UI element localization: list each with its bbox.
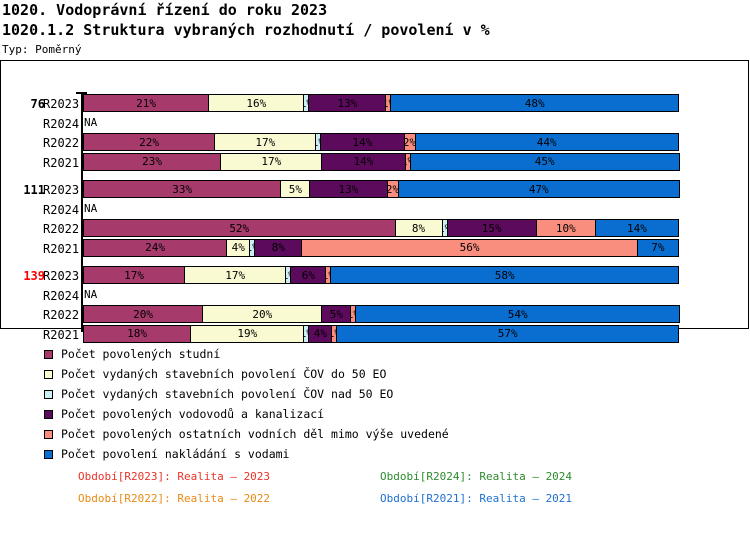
bar-row[interactable]: 24%4%1%8%56%7%	[83, 239, 684, 257]
bar-segment[interactable]: 52%	[83, 219, 396, 237]
bar-segment[interactable]: 14%	[321, 153, 405, 171]
row-label-r2021: R2021	[43, 328, 78, 342]
footer-period-annotation: Období[R2022]: Realita – 2022	[78, 492, 270, 505]
chart-subtitle-title: 1020.1.2 Struktura vybraných rozhodnutí …	[2, 21, 490, 39]
bar-segment[interactable]: 17%	[214, 133, 316, 151]
bar-row[interactable]: 22%17%1%14%2%44%	[83, 133, 684, 151]
bar-segment[interactable]: 23%	[83, 153, 221, 171]
row-label-r2021: R2021	[43, 242, 78, 256]
bar-segment[interactable]: 5%	[321, 305, 351, 323]
bar-segment[interactable]: 7%	[637, 239, 679, 257]
bar-row-na: NA	[84, 114, 97, 132]
bar-segment[interactable]: 17%	[220, 153, 322, 171]
bar-segment[interactable]: 56%	[301, 239, 638, 257]
chart-footer-annotations: Období[R2023]: Realita – 2023Období[R202…	[0, 470, 750, 520]
legend-item[interactable]: Počet vydaných stavebních povolení ČOV n…	[44, 384, 644, 404]
row-label-r2022: R2022	[43, 222, 78, 236]
bar-segment[interactable]: 14%	[320, 133, 404, 151]
chart-plot-frame: 76R202321%16%1%13%1%48%R2024NAR202222%17…	[0, 60, 749, 329]
bar-segment[interactable]: 16%	[208, 94, 304, 112]
legend-label: Počet povolených ostatních vodních děl m…	[61, 427, 449, 441]
bar-row-na: NA	[84, 286, 97, 304]
bar-segment[interactable]: 24%	[83, 239, 227, 257]
bar-segment[interactable]: 20%	[83, 305, 203, 323]
legend-item[interactable]: Počet povolených ostatních vodních děl m…	[44, 424, 644, 444]
legend-swatch-icon	[44, 370, 53, 379]
bar-segment[interactable]: 13%	[309, 180, 387, 198]
legend-label: Počet vydaných stavebních povolení ČOV n…	[61, 387, 393, 401]
bar-segment[interactable]: 8%	[395, 219, 443, 237]
bar-row[interactable]: 33%5%13%2%47%	[83, 180, 684, 198]
chart-type-label: Typ: Poměrný	[2, 43, 81, 56]
bar-segment[interactable]: 45%	[410, 153, 680, 171]
chart-legend: Počet povolených studníPočet vydaných st…	[44, 344, 644, 464]
footer-period-annotation: Období[R2023]: Realita – 2023	[78, 470, 270, 483]
bar-row[interactable]: 17%17%1%6%1%58%	[83, 266, 684, 284]
bar-segment[interactable]: 58%	[330, 266, 679, 284]
bar-segment[interactable]: 8%	[254, 239, 302, 257]
group-label: 111	[1, 183, 45, 197]
bar-segment[interactable]: 15%	[447, 219, 537, 237]
legend-swatch-icon	[44, 450, 53, 459]
group-label: 76	[1, 97, 45, 111]
bar-segment[interactable]: 17%	[184, 266, 286, 284]
bar-segment[interactable]: 5%	[280, 180, 310, 198]
row-label-r2022: R2022	[43, 308, 78, 322]
row-label-r2024: R2024	[43, 203, 78, 217]
row-label-r2024: R2024	[43, 289, 78, 303]
footer-period-annotation: Období[R2021]: Realita – 2021	[380, 492, 572, 505]
bar-row-na: NA	[84, 200, 97, 218]
legend-swatch-icon	[44, 390, 53, 399]
legend-swatch-icon	[44, 430, 53, 439]
bar-segment[interactable]: 4%	[226, 239, 250, 257]
bar-segment[interactable]: 33%	[83, 180, 281, 198]
legend-label: Počet povolených studní	[61, 347, 220, 361]
bar-segment[interactable]: 10%	[536, 219, 596, 237]
row-label-r2022: R2022	[43, 136, 78, 150]
bar-segment[interactable]: 22%	[83, 133, 215, 151]
bar-segment[interactable]: 6%	[290, 266, 326, 284]
row-label-r2021: R2021	[43, 156, 78, 170]
legend-item[interactable]: Počet povolených vodovodů a kanalizací	[44, 404, 644, 424]
row-label-r2023: R2023	[43, 269, 78, 283]
legend-item[interactable]: Počet povolených studní	[44, 344, 644, 364]
bar-segment[interactable]: 57%	[336, 325, 679, 343]
legend-label: Počet vydaných stavebních povolení ČOV d…	[61, 367, 386, 381]
bar-row[interactable]: 18%19%1%4%1%57%	[83, 325, 684, 343]
bar-segment[interactable]: 44%	[415, 133, 679, 151]
legend-item[interactable]: Počet povolení nakládání s vodami	[44, 444, 644, 464]
legend-label: Počet povolených vodovodů a kanalizací	[61, 407, 324, 421]
bar-segment[interactable]: 48%	[390, 94, 678, 112]
bar-row[interactable]: 52%8%1%15%10%14%	[83, 219, 684, 237]
footer-period-annotation: Období[R2024]: Realita – 2024	[380, 470, 572, 483]
row-label-r2024: R2024	[43, 117, 78, 131]
bar-segment[interactable]: 4%	[308, 325, 332, 343]
bar-segment[interactable]: 20%	[202, 305, 322, 323]
legend-label: Počet povolení nakládání s vodami	[61, 447, 289, 461]
bar-row[interactable]: 23%17%14%1%45%	[83, 153, 684, 171]
y-axis-line	[81, 92, 83, 332]
bar-segment[interactable]: 17%	[83, 266, 185, 284]
bar-segment[interactable]: 19%	[190, 325, 304, 343]
chart-plot-area: 76R202321%16%1%13%1%48%R2024NAR202222%17…	[1, 61, 750, 330]
row-label-r2023: R2023	[43, 183, 78, 197]
legend-swatch-icon	[44, 410, 53, 419]
bar-segment[interactable]: 14%	[595, 219, 679, 237]
row-label-r2023: R2023	[43, 97, 78, 111]
bar-segment[interactable]: 47%	[398, 180, 680, 198]
legend-swatch-icon	[44, 350, 53, 359]
bar-segment[interactable]: 13%	[308, 94, 386, 112]
legend-item[interactable]: Počet vydaných stavebních povolení ČOV d…	[44, 364, 644, 384]
bar-segment[interactable]: 21%	[83, 94, 209, 112]
page-title: 1020. Vodoprávní řízení do roku 2023	[2, 1, 327, 19]
bar-segment[interactable]: 18%	[83, 325, 191, 343]
group-label: 139	[1, 269, 45, 283]
bar-row[interactable]: 20%20%5%1%54%	[83, 305, 684, 323]
bar-row[interactable]: 21%16%1%13%1%48%	[83, 94, 684, 112]
bar-segment[interactable]: 54%	[355, 305, 680, 323]
